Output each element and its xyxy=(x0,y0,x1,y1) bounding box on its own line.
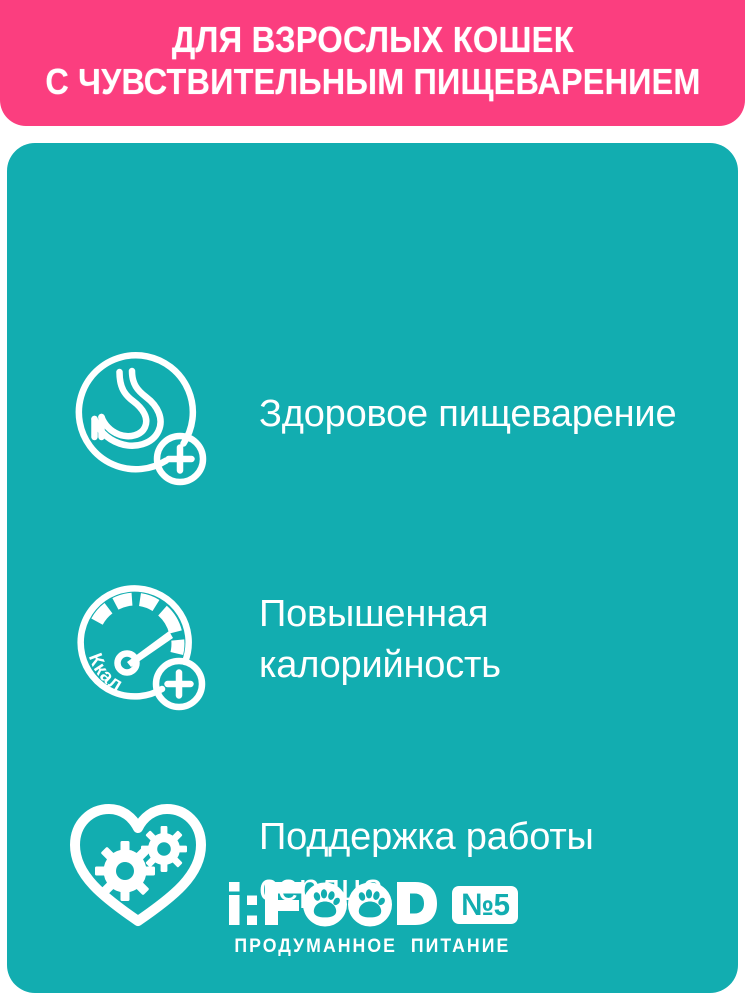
header-banner: ДЛЯ ВЗРОСЛЫХ КОШЕК С ЧУВСТВИТЕЛЬНЫМ ПИЩЕ… xyxy=(0,0,745,126)
product-infographic-banner: ДЛЯ ВЗРОСЛЫХ КОШЕК С ЧУВСТВИТЕЛЬНЫМ ПИЩЕ… xyxy=(0,0,745,1000)
brand-logo: №5 ПРОДУМАННОЕ ПИТАНИЕ xyxy=(7,881,738,958)
features-panel: Здоровое пищеварение xyxy=(7,143,738,993)
header-line-1: ДЛЯ ВЗРОСЛЫХ КОШЕК xyxy=(171,19,573,61)
header-line-2: С ЧУВСТВИТЕЛЬНЫМ ПИЩЕВАРЕНИЕМ xyxy=(45,61,700,103)
logo-tagline: ПРОДУМАННОЕ ПИТАНИЕ xyxy=(235,936,511,958)
ifood-wordmark xyxy=(227,881,439,929)
paw-print-icon xyxy=(348,883,392,927)
plus-badge xyxy=(156,661,202,707)
gear-small-icon xyxy=(141,826,187,872)
product-number: №5 xyxy=(461,889,509,920)
product-number-badge: №5 xyxy=(452,886,519,924)
paw-print-icon xyxy=(303,883,347,927)
logo-top-row: №5 xyxy=(227,881,519,929)
stomach-plus-icon xyxy=(63,339,213,489)
feature-row: Ккал Повышенная калорийность xyxy=(63,565,501,715)
feature-label: Повышенная калорийность xyxy=(259,589,501,690)
calorie-gauge-plus-icon: Ккал xyxy=(63,565,213,715)
feature-row: Здоровое пищеварение xyxy=(63,339,676,489)
feature-label: Здоровое пищеварение xyxy=(259,389,676,440)
